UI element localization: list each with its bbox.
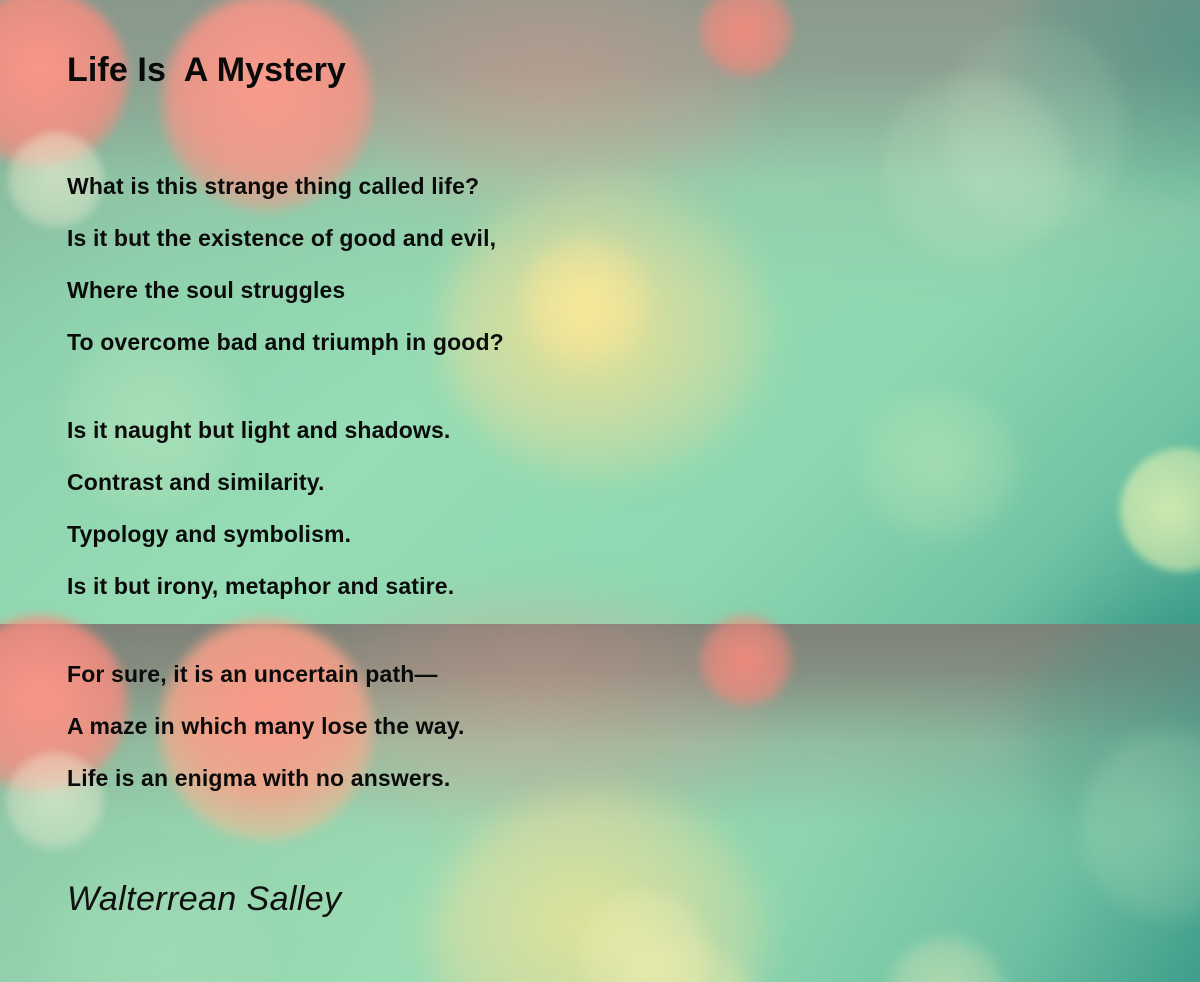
poem-line: Typology and symbolism.: [67, 508, 1117, 560]
poem-stanza: Is it naught but light and shadows. Cont…: [67, 404, 1117, 612]
poem-line: To overcome bad and triumph in good?: [67, 316, 1117, 368]
poem-line: Life is an enigma with no answers.: [67, 752, 1117, 804]
poem-line: What is this strange thing called life?: [67, 160, 1117, 212]
poem-line: Is it naught but light and shadows.: [67, 404, 1117, 456]
poem-line: Where the soul struggles: [67, 264, 1117, 316]
poem-body: What is this strange thing called life? …: [67, 160, 1117, 804]
poem-stanza: For sure, it is an uncertain path— A maz…: [67, 648, 1117, 804]
poem-line: Contrast and similarity.: [67, 456, 1117, 508]
poem-line: Is it but irony, metaphor and satire.: [67, 560, 1117, 612]
poem-title: Life Is A Mystery: [67, 50, 346, 91]
poem-author: Walterrean Salley: [67, 880, 342, 919]
poem-card: Life Is A Mystery What is this strange t…: [0, 0, 1200, 982]
poem-content: Life Is A Mystery What is this strange t…: [0, 0, 1200, 982]
poem-line: For sure, it is an uncertain path—: [67, 648, 1117, 700]
poem-stanza: What is this strange thing called life? …: [67, 160, 1117, 368]
poem-line: A maze in which many lose the way.: [67, 700, 1117, 752]
poem-line: Is it but the existence of good and evil…: [67, 212, 1117, 264]
